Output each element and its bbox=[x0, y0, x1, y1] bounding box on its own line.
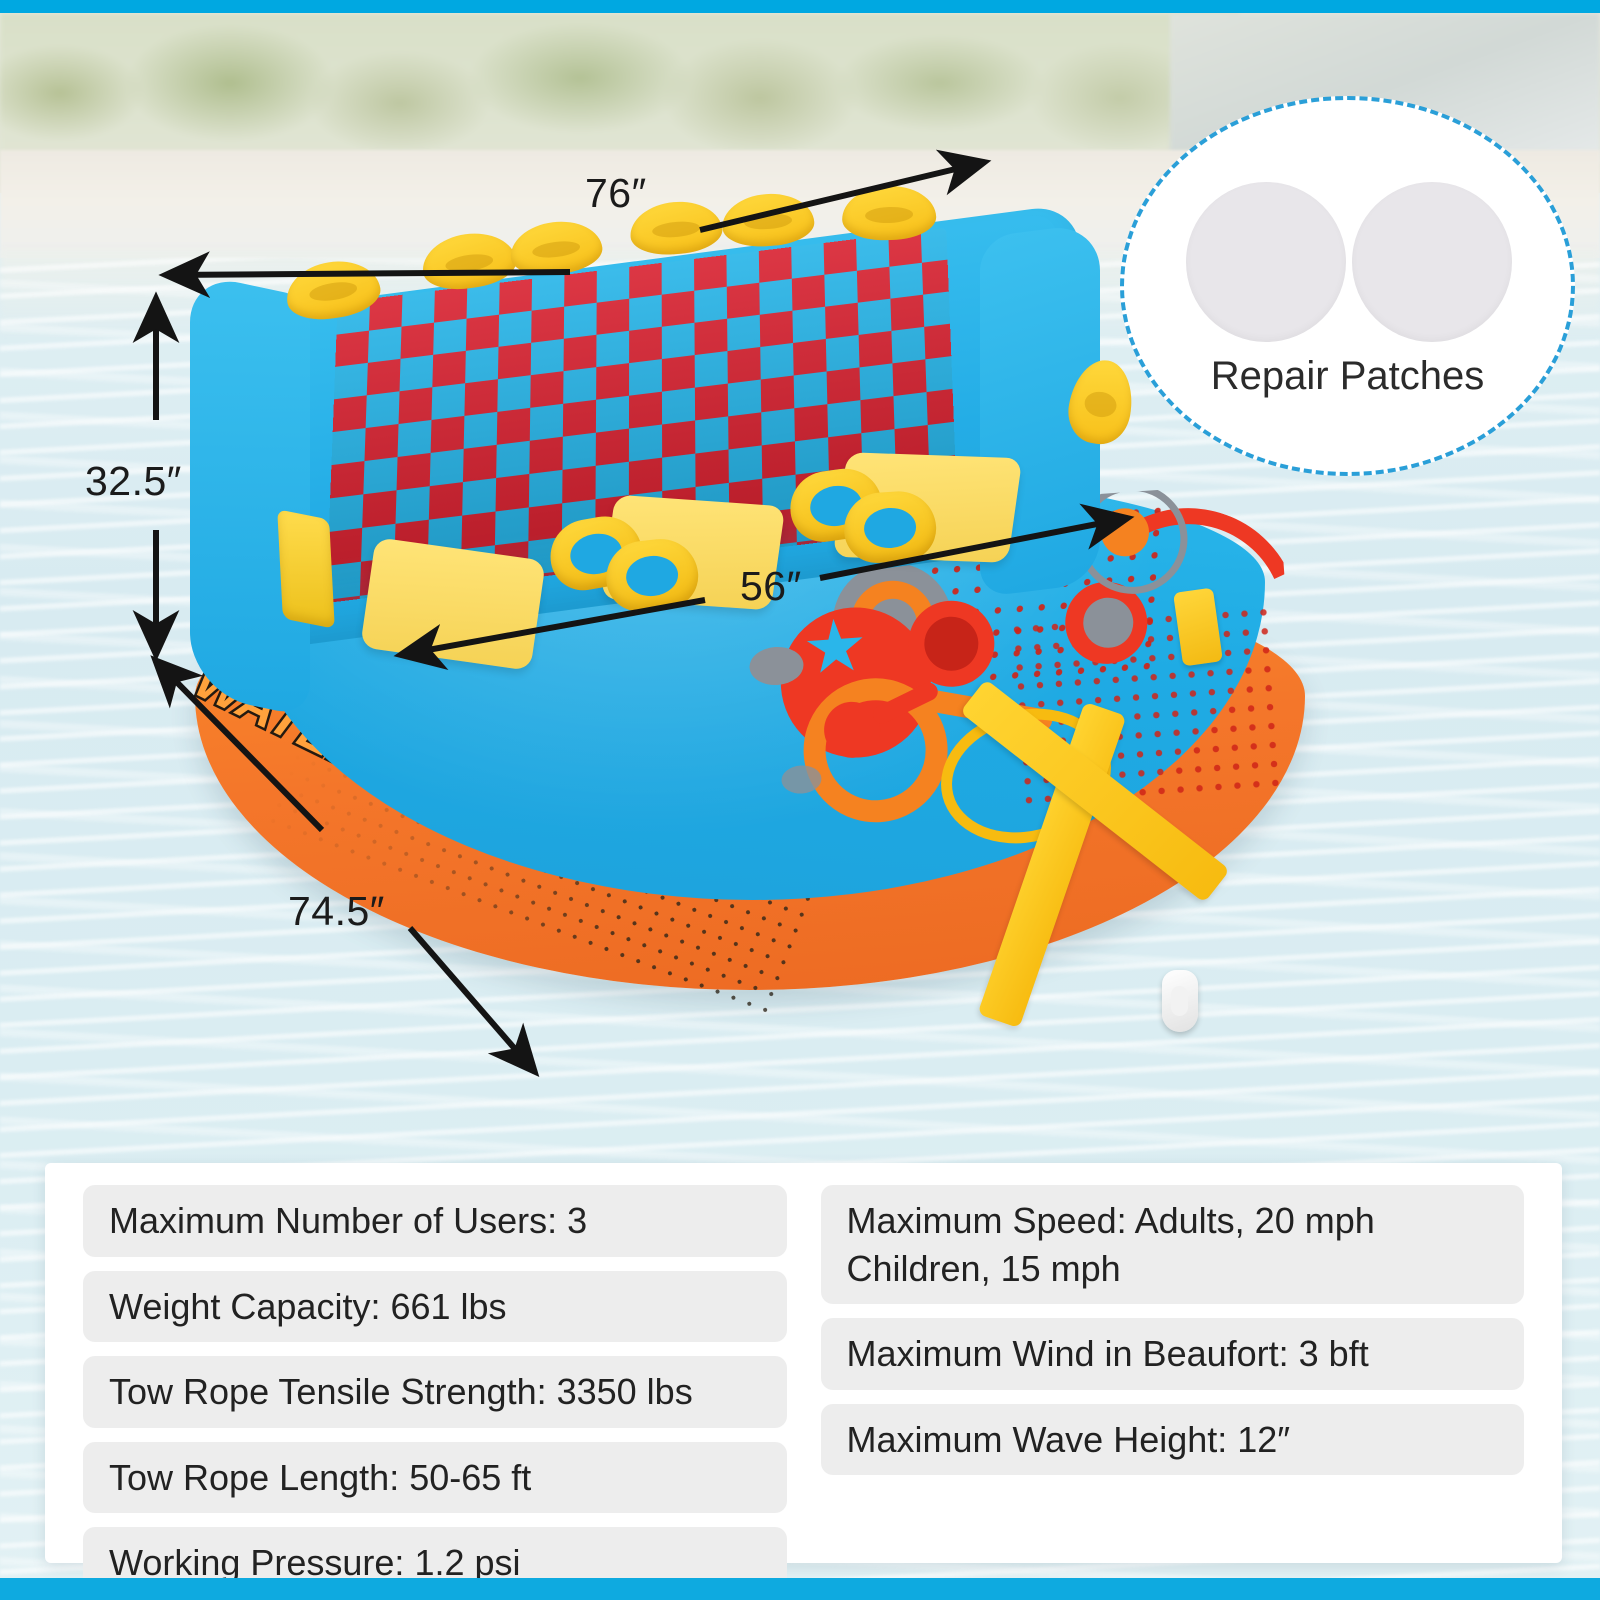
spec-item: Maximum Wave Height: 12″ bbox=[821, 1404, 1525, 1476]
seat-cushion bbox=[360, 537, 546, 671]
dimension-label-width: 76″ bbox=[585, 170, 647, 217]
spec-column-left: Maximum Number of Users: 3 Weight Capaci… bbox=[45, 1185, 803, 1563]
bottom-border-band bbox=[0, 1578, 1600, 1600]
specification-panel: Maximum Number of Users: 3 Weight Capaci… bbox=[45, 1163, 1562, 1563]
dimension-label-length: 74.5″ bbox=[288, 888, 385, 935]
repair-patch-icon bbox=[1186, 182, 1346, 342]
spec-item: Weight Capacity: 661 lbs bbox=[83, 1271, 787, 1343]
spec-item: Maximum Number of Users: 3 bbox=[83, 1185, 787, 1257]
grab-handle bbox=[841, 184, 937, 241]
top-border-band bbox=[0, 0, 1600, 13]
spec-column-right: Maximum Speed: Adults, 20 mph Children, … bbox=[803, 1185, 1563, 1563]
repair-patches-badge: Repair Patches bbox=[1120, 96, 1575, 476]
dimension-label-seat-width: 56″ bbox=[740, 563, 802, 610]
spec-item: Tow Rope Tensile Strength: 3350 lbs bbox=[83, 1356, 787, 1428]
cup-holder bbox=[277, 509, 335, 628]
spec-item: Maximum Wind in Beaufort: 3 bft bbox=[821, 1318, 1525, 1390]
left-armrest bbox=[190, 272, 310, 718]
dimension-label-height: 32.5″ bbox=[85, 458, 182, 505]
repair-patches-label: Repair Patches bbox=[1120, 354, 1575, 399]
spec-item: Maximum Speed: Adults, 20 mph Children, … bbox=[821, 1185, 1525, 1304]
tow-rope-clip bbox=[1162, 970, 1198, 1032]
repair-patch-icon bbox=[1352, 182, 1512, 342]
spec-item: Tow Rope Length: 50-65 ft bbox=[83, 1442, 787, 1514]
infographic-canvas: WATER SPORTS bbox=[0, 0, 1600, 1600]
